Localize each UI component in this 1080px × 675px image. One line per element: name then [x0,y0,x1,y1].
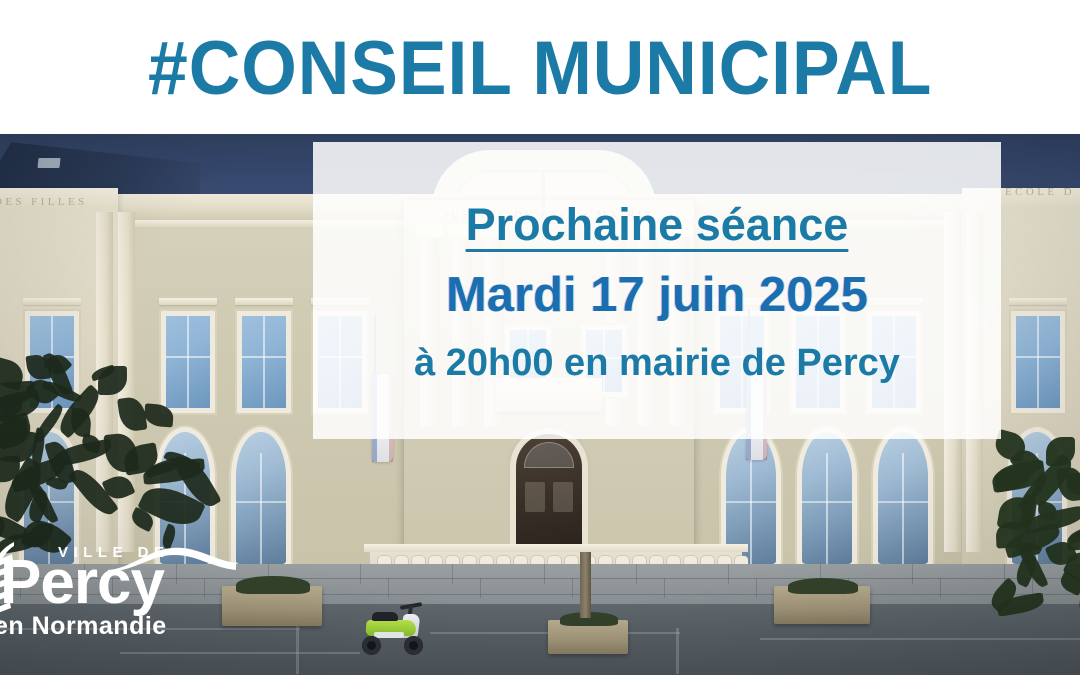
arched-window [802,432,852,564]
stone-joint [664,578,665,598]
page-title: #CONSEIL MUNICIPAL [148,31,932,107]
stone-joint [452,564,453,584]
window-rail [726,501,776,503]
scooter-wheel [362,636,381,655]
poster-canvas: #CONSEIL MUNICIPAL DES FILLES ECOLE D JU… [0,0,1080,675]
window-mullion [826,453,828,564]
stone-joint [756,578,757,598]
stone-joint [912,564,913,584]
stone-joint [544,564,545,584]
window [1016,316,1060,408]
stone-joint [360,564,361,584]
session-date: Mardi 17 juin 2025 [446,270,868,321]
window-lintel [1009,298,1067,305]
scooter-wheel [404,636,423,655]
logo-en-normandie-label: en Normandie [0,614,167,639]
scooter-seat [372,612,398,621]
title-banner: #CONSEIL MUNICIPAL [0,0,1080,134]
scooter [352,602,432,662]
session-time-and-place: à 20h00 en mairie de Percy [414,344,900,384]
roof-dormer-window [37,158,60,168]
planter-shrub [788,578,858,594]
scooter-deck [374,632,404,638]
window-lintel [235,298,293,305]
tree-foliage-right [980,424,1080,624]
balustrade-cap [364,544,748,552]
arched-window [878,432,928,564]
stone-joint [940,578,941,598]
right-wing-inscription: ECOLE D [1005,186,1075,198]
window-rail [878,501,928,503]
stone-joint [388,578,389,598]
pavement-seam [760,638,1080,640]
window-mullion [750,453,752,564]
window-mullion [260,453,262,564]
window [242,316,286,408]
pavement-seam [676,628,679,674]
window-rail [802,501,852,503]
foliage-leaf [116,396,147,433]
window-lintel [23,298,81,305]
door-panel [525,482,545,512]
stone-joint [636,564,637,584]
city-logo: VILLE DE Percy en Normandie [0,522,254,652]
pavement-seam [296,624,299,674]
foliage-leaf [144,403,175,427]
logo-percy-wordmark: Percy [0,552,164,614]
next-session-heading: Prochaine séance [466,201,849,248]
left-wing-inscription: DES FILLES [0,196,88,208]
window-mullion [902,453,904,564]
window-lintel [159,298,217,305]
tree-trunk [580,552,591,618]
stone-joint [728,564,729,584]
door-fanlight [524,442,574,468]
stone-joint [572,578,573,598]
info-panel: Prochaine séance Mardi 17 juin 2025 à 20… [313,142,1001,439]
window-rail [236,501,286,503]
pavement-seam [120,652,360,654]
stone-joint [480,578,481,598]
door-panel [553,482,573,512]
